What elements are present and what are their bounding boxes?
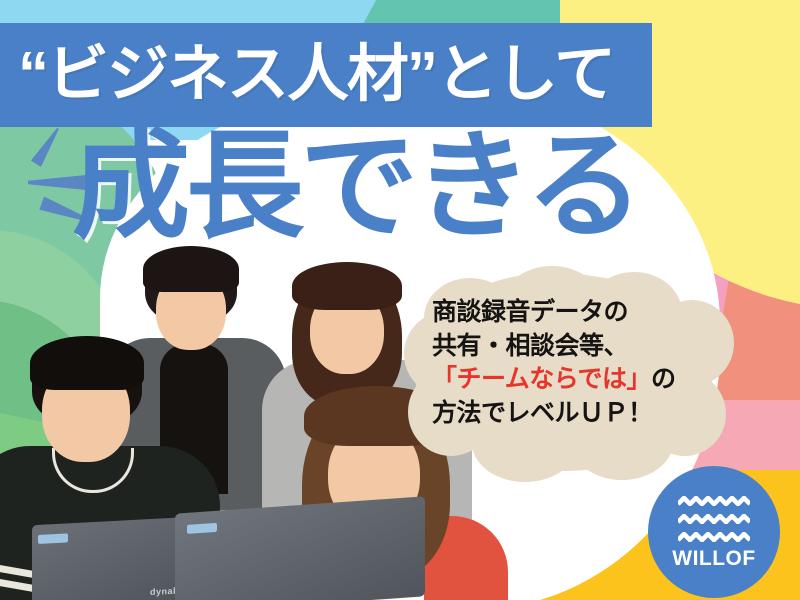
page-title: 成長できる bbox=[72, 128, 640, 246]
wave-row-icon bbox=[678, 496, 750, 506]
poster-canvas: dynabook “ビジネス人材”として 成長できる 商談録音データの 共有・相… bbox=[0, 0, 800, 600]
bubble-line-3-highlight: 「チームならでは」 bbox=[432, 365, 651, 393]
hair-front bbox=[30, 336, 144, 390]
bubble-line-3-suffix: の bbox=[651, 365, 676, 393]
bubble-line-4: 方法でレベルＵＰ！ bbox=[432, 397, 718, 430]
laptop-sticker bbox=[38, 533, 68, 544]
speech-bubble-text: 商談録音データの 共有・相談会等、 「チームならでは」の 方法でレベルＵＰ！ bbox=[432, 296, 718, 430]
bubble-line-1: 商談録音データの bbox=[432, 296, 718, 329]
headline-banner-text: “ビジネス人材”として bbox=[18, 44, 614, 106]
willof-logo[interactable]: WILLOF bbox=[648, 466, 780, 598]
willof-wordmark: WILLOF bbox=[672, 548, 755, 569]
wave-row-icon bbox=[678, 514, 750, 524]
headline-banner: “ビジネス人材”として bbox=[0, 23, 652, 127]
laptop-right bbox=[175, 496, 425, 600]
wave-mark-icon bbox=[678, 496, 750, 542]
hair-bangs bbox=[292, 262, 402, 310]
wave-row-icon bbox=[678, 532, 750, 542]
laptop-sticker bbox=[187, 523, 217, 534]
bubble-line-3: 「チームならでは」の bbox=[432, 363, 718, 396]
bubble-line-2: 共有・相談会等、 bbox=[432, 330, 718, 363]
